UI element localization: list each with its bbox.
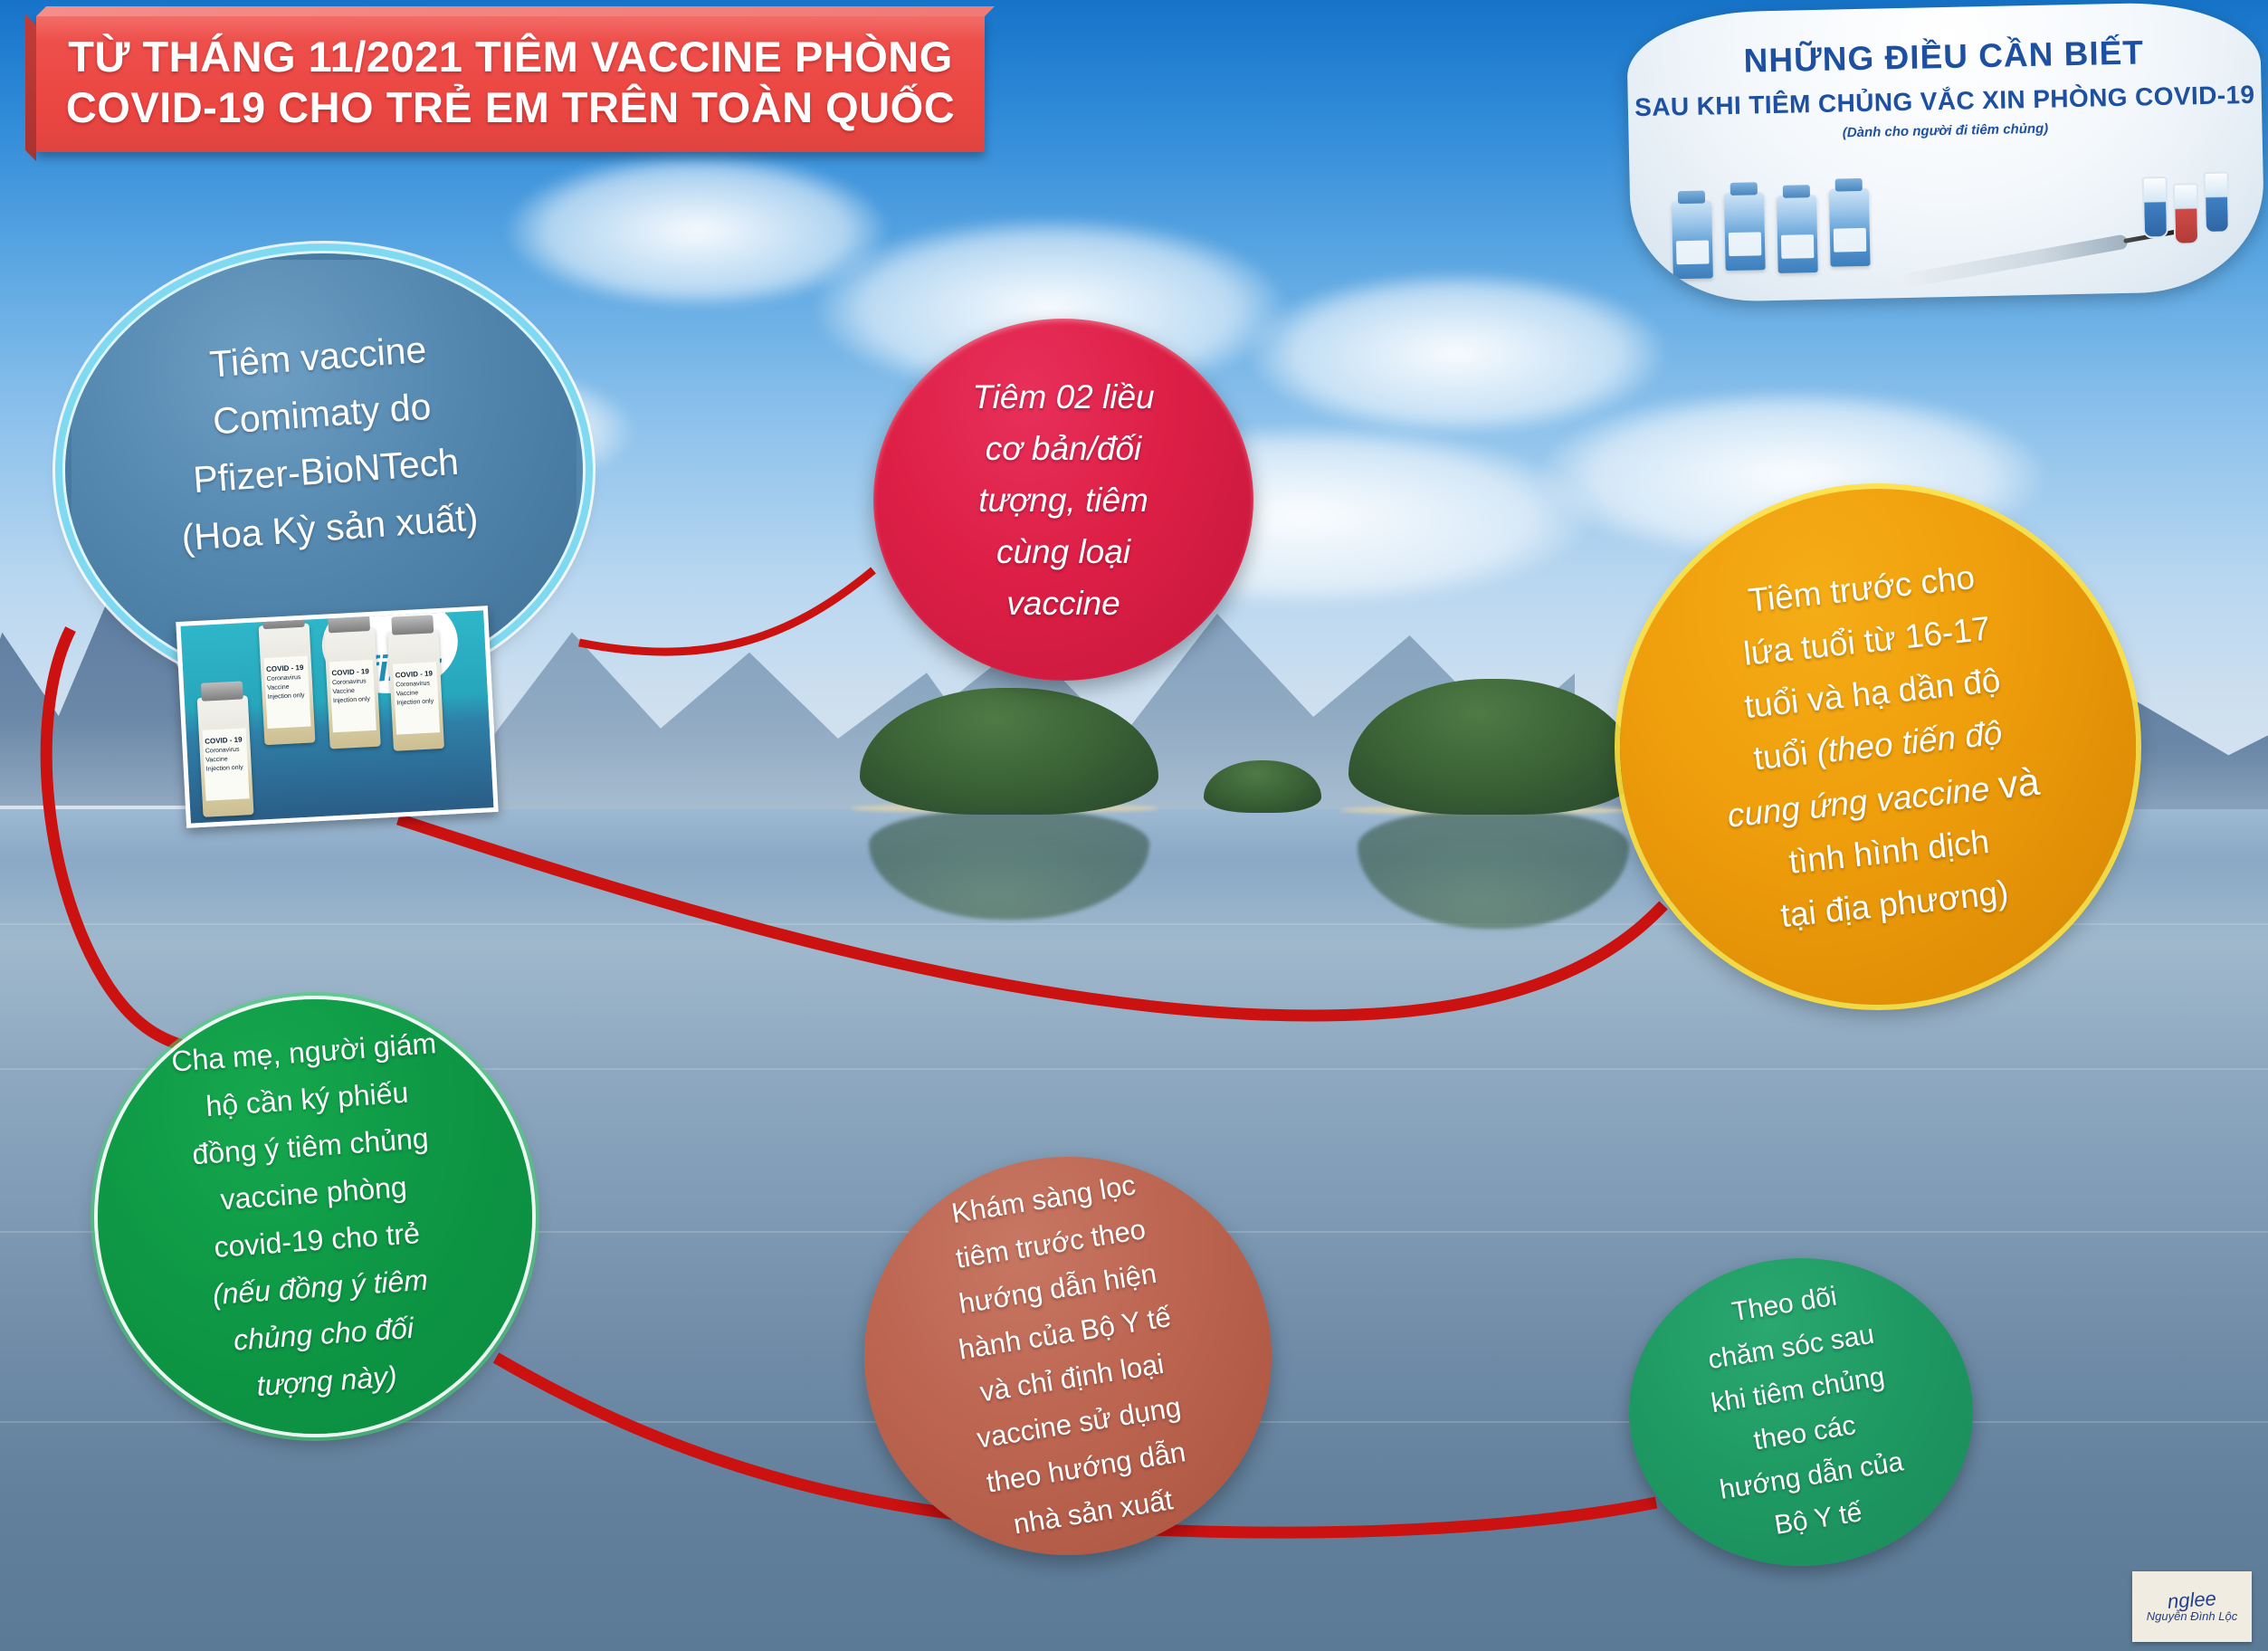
vial-label bbox=[1676, 241, 1710, 265]
vial-label-mid2: Vaccine bbox=[396, 690, 419, 697]
pfizer-vial: COVID - 19 Coronavirus Vaccine Injection… bbox=[324, 627, 381, 749]
vial-label-mid2: Vaccine bbox=[332, 688, 355, 695]
bubble-parental-consent[interactable]: Cha mẹ, người giám hộ cần ký phiếu đồng … bbox=[98, 999, 532, 1434]
bubble-doses-text: Tiêm 02 liều cơ bản/đối tượng, tiêm cùng… bbox=[900, 371, 1226, 629]
bubble-line: cùng loại bbox=[900, 526, 1226, 577]
vial-label-mid: Coronavirus bbox=[395, 681, 430, 689]
pfizer-vial-label: COVID - 19 Coronavirus Vaccine Injection… bbox=[205, 735, 246, 774]
bubble-line: vaccine bbox=[900, 577, 1226, 629]
vial-label-mid2: Vaccine bbox=[267, 684, 290, 692]
vial-label-top: COVID - 19 bbox=[395, 669, 433, 679]
vial-label-bottom: Injection only bbox=[206, 765, 243, 773]
vaccine-vial-icon bbox=[1829, 188, 1871, 267]
test-tube-icon bbox=[2173, 183, 2199, 245]
vaccine-vial-icon bbox=[1672, 200, 1713, 279]
poster-title: TỪ THÁNG 11/2021 TIÊM VACCINE PHÒNG COVI… bbox=[36, 16, 985, 133]
vial-label-top: COVID - 19 bbox=[205, 736, 243, 746]
pfizer-vial-label: COVID - 19 Coronavirus Vaccine Injection… bbox=[331, 667, 373, 706]
test-tube-icon bbox=[2142, 177, 2168, 239]
infographic-poster: TỪ THÁNG 11/2021 TIÊM VACCINE PHÒNG COVI… bbox=[0, 0, 2268, 1651]
pfizer-vaccine-photo: Pfizer COVID - 19 Coronavirus Vaccine In… bbox=[176, 606, 498, 828]
vial-label-bottom: Injection only bbox=[268, 692, 305, 701]
bubble-doses[interactable]: Tiêm 02 liều cơ bản/đối tượng, tiêm cùng… bbox=[873, 319, 1253, 681]
bubble-age-priority-text: Tiêm trước cho lứa tuổi từ 16-17 tuổi và… bbox=[1638, 539, 2118, 953]
bubble-follow-up-care-text: Theo dõi chăm sóc sau khi tiêm chủng the… bbox=[1634, 1260, 1968, 1564]
bubble-follow-up-care[interactable]: Theo dõi chăm sóc sau khi tiêm chủng the… bbox=[1629, 1258, 1973, 1566]
banner-heading: NHỮNG ĐIỀU CẦN BIẾT bbox=[1626, 32, 2261, 83]
pfizer-vial-label: COVID - 19 Coronavirus Vaccine Injection… bbox=[266, 663, 308, 702]
health-notice-banner-photo: NHỮNG ĐIỀU CẦN BIẾT SAU KHI TIÊM CHỦNG V… bbox=[1626, 1, 2266, 304]
vial-label-mid2: Vaccine bbox=[205, 756, 228, 763]
syringe-icon bbox=[1903, 234, 2129, 288]
vial-label-mid: Coronavirus bbox=[332, 678, 367, 686]
bubble-line: tượng, tiêm bbox=[900, 474, 1226, 526]
bubble-line-plain: tuổi bbox=[1752, 733, 1819, 777]
bubble-vaccine-type-text: Tiêm vaccine Comimaty do Pfizer-BioNTech… bbox=[100, 314, 548, 572]
bubble-screening-text: Khám sàng lọc tiêm trước theo hướng dẫn … bbox=[867, 1150, 1270, 1562]
vial-label-bottom: Injection only bbox=[333, 696, 370, 704]
banner-subheading: SAU KHI TIÊM CHỦNG VẮC XIN PHÒNG COVID-1… bbox=[1628, 81, 2263, 123]
bubble-line-accent: và bbox=[1996, 760, 2042, 807]
pfizer-vial: COVID - 19 Coronavirus Vaccine Injection… bbox=[259, 623, 316, 745]
pfizer-vial: COVID - 19 Coronavirus Vaccine Injection… bbox=[197, 695, 254, 817]
pfizer-vial: COVID - 19 Coronavirus Vaccine Injection… bbox=[387, 629, 444, 751]
pfizer-vial-label: COVID - 19 Coronavirus Vaccine Injection… bbox=[395, 669, 436, 708]
bubble-screening[interactable]: Khám sàng lọc tiêm trước theo hướng dẫn … bbox=[864, 1157, 1272, 1555]
poster-title-banner: TỪ THÁNG 11/2021 TIÊM VACCINE PHÒNG COVI… bbox=[36, 16, 985, 152]
bubble-parental-consent-text: Cha mẹ, người giám hộ cần ký phiếu đồng … bbox=[116, 1016, 515, 1417]
vaccine-vial-icon bbox=[1777, 195, 1818, 273]
test-tube-icon bbox=[2204, 171, 2230, 234]
bubble-line: Tiêm 02 liều bbox=[900, 371, 1226, 423]
poster-title-line1: TỪ THÁNG 11/2021 TIÊM VACCINE PHÒNG bbox=[54, 32, 967, 82]
vial-label-top: COVID - 19 bbox=[331, 667, 369, 677]
bubble-age-priority[interactable]: Tiêm trước cho lứa tuổi từ 16-17 tuổi và… bbox=[1620, 489, 2136, 1005]
vial-label-top: COVID - 19 bbox=[266, 663, 304, 673]
vial-label-mid: Coronavirus bbox=[205, 747, 240, 755]
vial-label bbox=[1781, 234, 1815, 259]
vial-label-bottom: Injection only bbox=[396, 698, 434, 706]
signature-scrawl: nglee bbox=[2167, 1589, 2216, 1611]
vial-label-mid: Coronavirus bbox=[267, 674, 301, 682]
banner-note: (Dành cho người đi tiêm chủng) bbox=[1628, 117, 2262, 146]
vaccine-vial-icon bbox=[1724, 192, 1766, 271]
vial-label bbox=[1834, 228, 1867, 253]
poster-title-line2: COVID-19 CHO TRẺ EM TRÊN TOÀN QUỐC bbox=[54, 82, 967, 133]
signature-stamp: nglee Nguyễn Đình Lộc bbox=[2132, 1571, 2252, 1642]
vial-label bbox=[1729, 232, 1762, 256]
cloud-shape bbox=[1249, 272, 1665, 434]
bubble-line: cơ bản/đối bbox=[900, 423, 1226, 474]
